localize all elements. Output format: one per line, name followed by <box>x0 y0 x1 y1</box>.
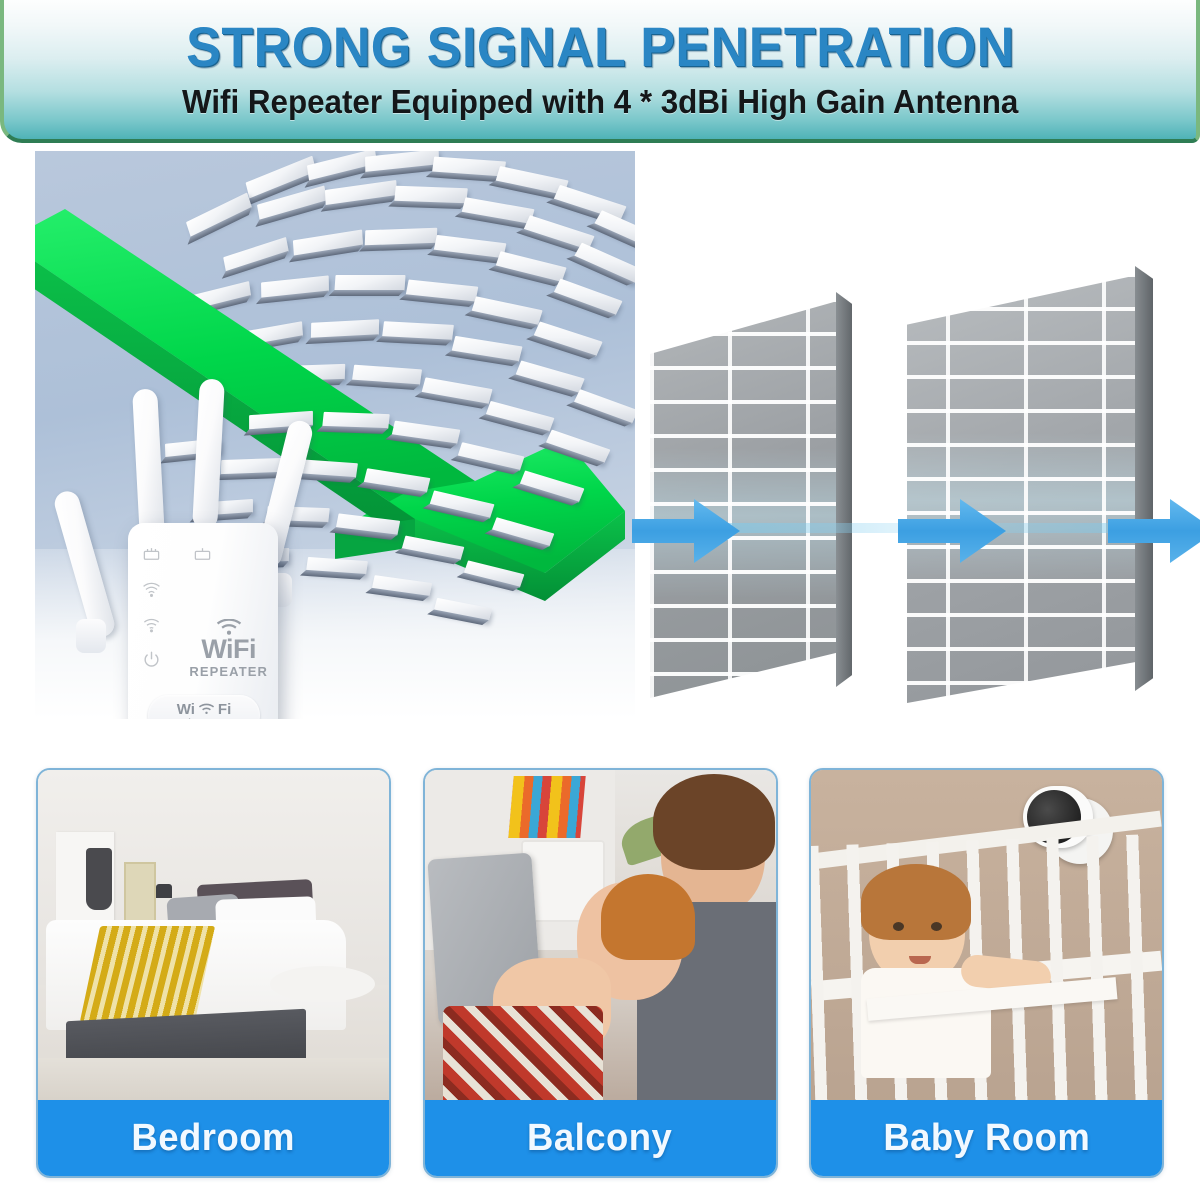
wifi-5g-led-icon <box>142 615 161 634</box>
banner-subtitle: Wifi Repeater Equipped with 4 * 3dBi Hig… <box>182 83 1018 121</box>
baby-room-label: Baby Room <box>883 1117 1090 1160</box>
signal-arrow-1-icon <box>632 491 742 571</box>
banner-title: STRONG SIGNAL PENETRATION <box>186 18 1015 76</box>
balcony-mother-hair <box>653 774 775 870</box>
wifi-repeater-device: WiFi REPEATER Wi Fi <box>90 401 370 719</box>
use-case-card-row: Bedroom <box>0 768 1200 1200</box>
brick-wall-2-edge <box>1135 266 1153 691</box>
signal-arrow-3-icon <box>1108 491 1200 571</box>
wifi-button-label-left: Wi <box>177 702 195 717</box>
balcony-label: Balcony <box>527 1117 672 1160</box>
flying-brick <box>432 157 506 178</box>
device-body: WiFi REPEATER Wi Fi <box>128 523 278 719</box>
baby-eye-right <box>931 922 942 931</box>
wifi-ap-repeater-button[interactable]: Wi Fi AP/Repeater <box>148 695 260 719</box>
wifi-signal-icon <box>212 619 246 635</box>
product-feature-image: STRONG SIGNAL PENETRATION Wifi Repeater … <box>0 0 1200 1200</box>
bedroom-sidetable <box>270 966 375 1002</box>
flying-brick <box>365 151 439 173</box>
header-banner: STRONG SIGNAL PENETRATION Wifi Repeater … <box>0 0 1200 143</box>
wifi-signal-small-icon <box>198 703 215 715</box>
antenna-2 <box>132 388 165 539</box>
brick-wall-2 <box>907 273 1147 703</box>
brick-wall-penetration-diagram <box>640 143 1200 743</box>
balcony-photo <box>425 770 776 1110</box>
bedroom-photo <box>38 770 389 1110</box>
hero-section: WiFi REPEATER Wi Fi <box>0 143 1200 763</box>
bedroom-caption: Bedroom <box>38 1100 389 1176</box>
balcony-child-shirt <box>443 1006 603 1110</box>
brick-wall-2-face <box>907 273 1147 703</box>
bedroom-coat <box>86 848 112 910</box>
baby-eye-left <box>893 922 904 931</box>
device-brand-sub: REPEATER <box>189 664 268 679</box>
bedroom-label: Bedroom <box>132 1117 295 1160</box>
flying-brick <box>352 365 422 386</box>
antenna-base-1 <box>76 619 106 653</box>
device-brand-text: WiFi <box>189 636 268 663</box>
antenna-3 <box>192 378 225 529</box>
bedroom-lamp <box>156 884 172 898</box>
baby-room-photo <box>811 770 1162 1110</box>
lan-led-icon <box>193 545 212 564</box>
signal-arrow-2-icon <box>898 491 1008 571</box>
power-led-icon <box>142 650 161 669</box>
bedroom-throw <box>80 926 215 1022</box>
wall-break-scene: WiFi REPEATER Wi Fi <box>35 151 635 719</box>
baby-hair <box>861 864 971 940</box>
use-case-card-baby-room[interactable]: Baby Room <box>809 768 1164 1178</box>
brick-wall-1-edge <box>836 292 852 687</box>
balcony-books <box>508 776 585 838</box>
wifi-2g-led-icon <box>142 580 161 599</box>
balcony-caption: Balcony <box>425 1100 776 1176</box>
balcony-child-hair <box>601 874 695 960</box>
wifi-button-label-right: Fi <box>218 702 231 717</box>
device-brand-logo: WiFi REPEATER <box>189 619 268 679</box>
use-case-card-bedroom[interactable]: Bedroom <box>36 768 391 1178</box>
use-case-card-balcony[interactable]: Balcony <box>423 768 778 1178</box>
wifi-button-mode-label: AP/Repeater <box>173 718 235 719</box>
baby-room-caption: Baby Room <box>811 1100 1162 1176</box>
wan-led-icon <box>142 545 161 564</box>
bedroom-mirror <box>124 862 156 924</box>
